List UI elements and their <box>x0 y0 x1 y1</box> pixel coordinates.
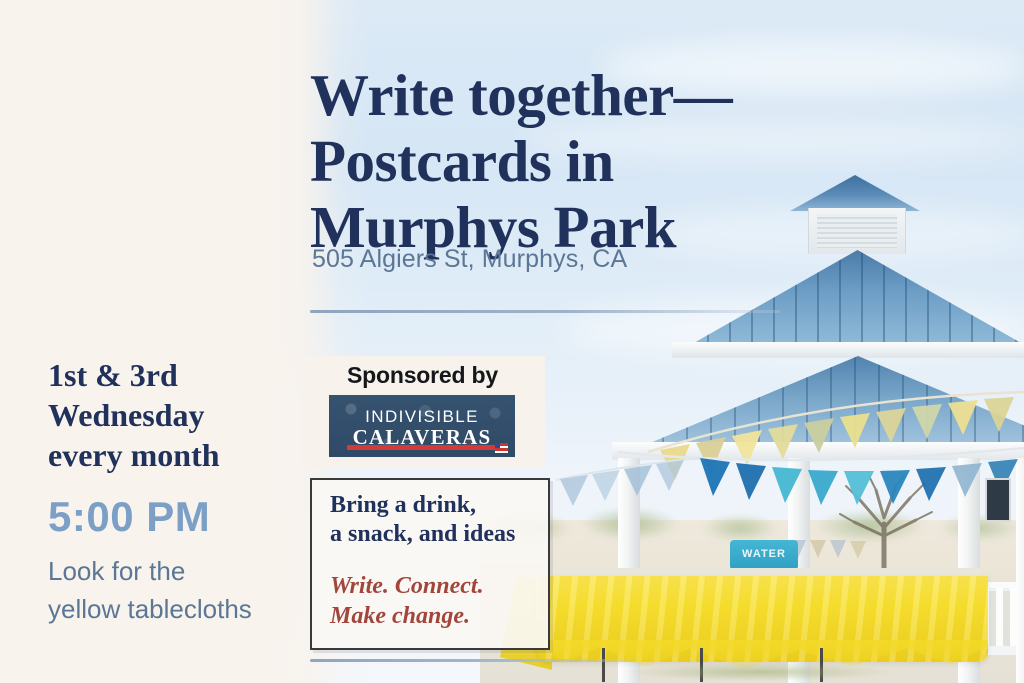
headline-line-1: Write together— <box>310 62 732 128</box>
poster-content: Write together— Postcards in Murphys Par… <box>0 0 1024 683</box>
wayfinding-note: Look for the yellow tablecloths <box>48 553 308 628</box>
note-line-3: Write. Connect. <box>330 573 484 599</box>
divider-bottom <box>310 659 630 662</box>
schedule-line-1: 1st & 3rd <box>48 357 178 393</box>
schedule-line-3: every month <box>48 437 220 473</box>
note-line-1: Bring a drink, <box>330 492 476 518</box>
note-bring-text: Bring a drink, a snack, and ideas <box>330 491 540 550</box>
note-slogan-text: Write. Connect. Make change. <box>330 572 545 632</box>
event-time: 5:00 PM <box>48 493 210 541</box>
page-title: Write together— Postcards in Murphys Par… <box>310 62 780 260</box>
wayfinding-line-1: Look for the <box>48 556 185 586</box>
flag-icon <box>495 443 508 453</box>
event-poster: Write together— Postcards in Murphys Par… <box>0 0 1024 683</box>
indivisible-calaveras-logo: INDIVISIBLE CALAVERAS <box>329 395 515 457</box>
divider-top <box>310 310 780 313</box>
bring-items-note: Bring a drink, a snack, and ideas Write.… <box>310 478 550 650</box>
sponsored-by-label: Sponsored by <box>300 362 545 389</box>
note-line-4: Make change. <box>330 603 470 629</box>
headline-line-2: Postcards in <box>310 128 614 194</box>
wayfinding-line-2: yellow tablecloths <box>48 594 252 624</box>
logo-line-indivisible: INDIVISIBLE <box>329 407 515 427</box>
event-address: 505 Algiers St, Murphys, CA <box>312 245 627 274</box>
logo-red-underline <box>347 445 497 450</box>
sponsor-block: Sponsored by INDIVISIBLE CALAVERAS <box>300 356 545 468</box>
schedule-text: 1st & 3rd Wednesday every month <box>48 355 298 475</box>
note-line-2: a snack, and ideas <box>330 521 515 547</box>
schedule-line-2: Wednesday <box>48 397 204 433</box>
